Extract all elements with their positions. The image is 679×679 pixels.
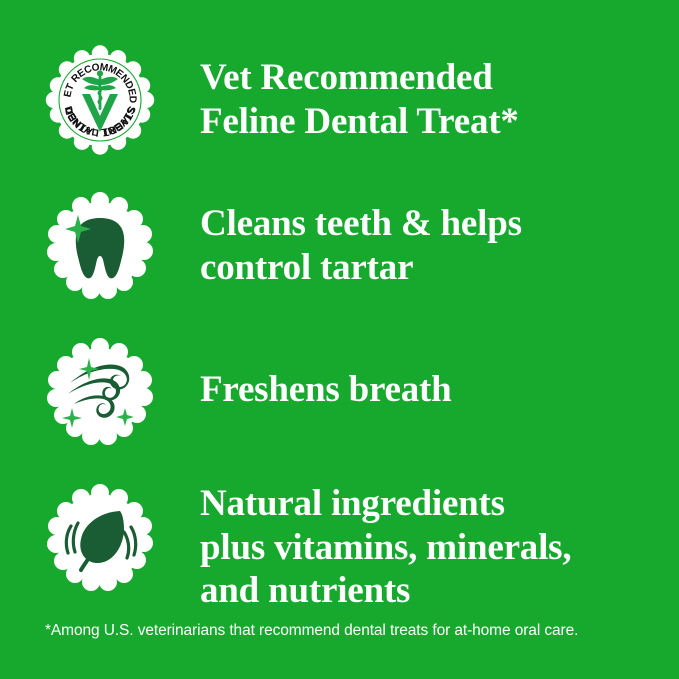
leaf-natural-ingredients-icon xyxy=(44,482,156,594)
feature-text: Vet Recommended Feline Dental Treat* xyxy=(200,44,519,143)
feature-row: VET RECOMMENDED STAERT LATNED DENTAL TRE… xyxy=(0,44,679,156)
feature-text: Cleans teeth & helps control tartar xyxy=(200,190,522,289)
promo-panel: VET RECOMMENDED STAERT LATNED DENTAL TRE… xyxy=(0,0,679,679)
feature-row: Natural ingredients plus vitamins, miner… xyxy=(0,482,679,613)
feature-row: Freshens breath xyxy=(0,336,679,448)
feature-text: Freshens breath xyxy=(200,336,452,412)
fresh-breath-swirl-icon xyxy=(44,336,156,448)
vet-recommended-seal-icon: VET RECOMMENDED STAERT LATNED DENTAL TRE… xyxy=(44,44,156,156)
feature-text: Natural ingredients plus vitamins, miner… xyxy=(200,482,571,613)
sparkling-tooth-icon xyxy=(44,190,156,302)
footnote-disclaimer: *Among U.S. veterinarians that recommend… xyxy=(45,622,645,641)
feature-row: Cleans teeth & helps control tartar xyxy=(0,190,679,302)
